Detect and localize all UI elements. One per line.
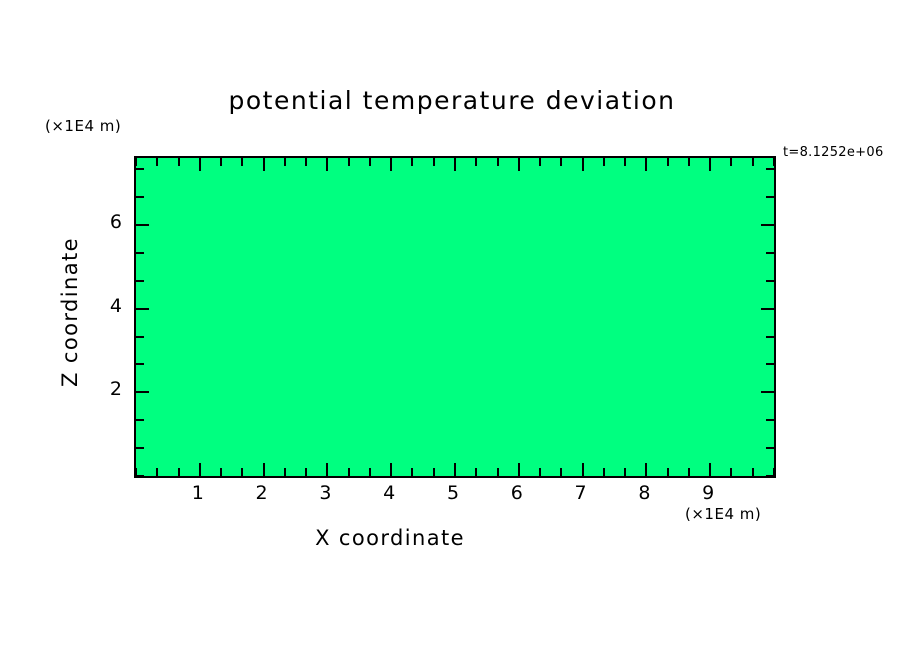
x-tick-top [560,158,562,166]
x-tick-top [688,158,690,166]
x-tick-label: 9 [688,482,728,504]
x-tick [178,468,180,476]
x-tick [667,468,669,476]
y-axis-label: Z coordinate [58,202,82,422]
x-tick [560,468,562,476]
y-tick-right [766,475,774,477]
x-tick [220,468,222,476]
x-tick-top [497,158,499,166]
x-tick-top [752,158,754,166]
scalar-field-heatmap [136,158,774,476]
x-tick [326,463,328,476]
x-tick-top [305,158,307,166]
y-tick [136,363,144,365]
x-tick [709,463,711,476]
x-tick [730,468,732,476]
x-tick [688,468,690,476]
x-tick [263,463,265,476]
x-tick-top [220,158,222,166]
x-tick [305,468,307,476]
y-tick [136,447,144,449]
x-tick-top [199,158,201,171]
y-tick-label: 4 [94,295,122,317]
x-tick-top [539,158,541,166]
x-axis-label: X coordinate [0,526,780,550]
y-tick [136,419,144,421]
x-tick-top [667,158,669,166]
x-tick [433,468,435,476]
x-tick-top [603,158,605,166]
y-tick-right [766,336,774,338]
x-tick [582,463,584,476]
x-tick [475,468,477,476]
x-tick [645,463,647,476]
y-tick [136,168,144,170]
y-tick [136,252,144,254]
x-tick-top [411,158,413,166]
x-tick [603,468,605,476]
x-axis-units: (×1E4 m) [685,505,761,523]
figure-canvas: potential temperature deviation (×1E4 m)… [0,0,904,654]
x-tick [156,468,158,476]
y-tick-right [766,280,774,282]
contour-plot-area [134,156,776,478]
x-tick-top [624,158,626,166]
y-tick [136,224,149,226]
y-tick [136,475,144,477]
x-tick-top [390,158,392,171]
x-tick-top [241,158,243,166]
x-tick [518,463,520,476]
x-tick-top [263,158,265,171]
x-tick [497,468,499,476]
x-tick [199,463,201,476]
x-tick [411,468,413,476]
x-tick-top [454,158,456,171]
x-tick-label: 5 [433,482,473,504]
y-axis-units: (×1E4 m) [45,117,121,135]
x-tick [369,468,371,476]
x-tick [454,463,456,476]
y-tick-right [766,363,774,365]
y-tick-label: 6 [94,211,122,233]
y-tick-right [761,308,774,310]
x-tick-top [369,158,371,166]
y-tick-right [766,196,774,198]
x-tick [624,468,626,476]
y-tick [136,280,144,282]
x-tick [241,468,243,476]
x-tick-top [178,158,180,166]
y-tick-right [766,252,774,254]
y-tick [136,391,149,393]
x-tick-label: 2 [242,482,282,504]
x-tick-label: 4 [369,482,409,504]
x-tick [390,463,392,476]
time-annotation: t=8.1252e+06 [783,145,884,160]
x-tick [752,468,754,476]
y-tick-label: 2 [94,378,122,400]
y-tick-right [761,224,774,226]
x-tick-top [518,158,520,171]
x-tick-top [645,158,647,171]
x-tick-top [709,158,711,171]
y-tick [136,196,144,198]
x-tick [348,468,350,476]
y-tick-right [766,447,774,449]
x-tick-label: 6 [497,482,537,504]
x-tick-label: 7 [561,482,601,504]
x-tick-top [730,158,732,166]
colorbar [778,196,808,524]
x-tick-label: 8 [624,482,664,504]
x-tick-top [348,158,350,166]
x-tick-top [135,158,137,166]
x-tick-top [475,158,477,166]
y-tick [136,308,149,310]
x-tick-top [773,158,775,166]
x-tick-top [433,158,435,166]
y-tick-right [761,391,774,393]
x-tick-top [284,158,286,166]
x-tick [539,468,541,476]
x-tick-top [326,158,328,171]
y-tick-right [766,168,774,170]
page-title: potential temperature deviation [0,86,904,115]
x-tick-label: 3 [305,482,345,504]
x-tick-top [582,158,584,171]
x-tick [284,468,286,476]
x-tick-label: 1 [178,482,218,504]
x-tick-top [156,158,158,166]
y-tick [136,336,144,338]
y-tick-right [766,419,774,421]
